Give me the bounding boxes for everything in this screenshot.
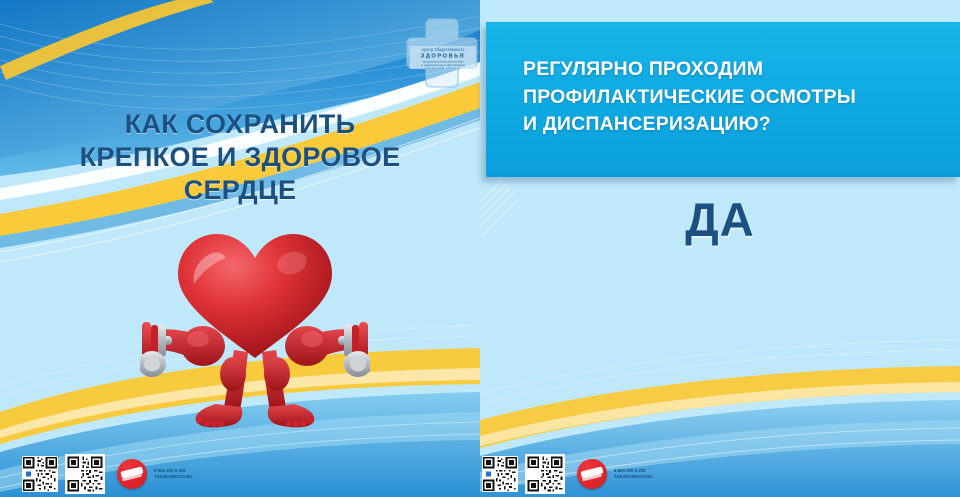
contact-website: TAKZDOROVO.RU <box>154 474 192 480</box>
qr-code-primary[interactable] <box>482 456 518 492</box>
left-footer-strip: 8 800 200 0 200 TAKZDOROVO.RU <box>22 455 192 493</box>
banner-line-3: И ДИСПАНСЕРИЗАЦИЮ? <box>523 111 946 139</box>
takzdorovo-badge-icon[interactable] <box>117 459 147 489</box>
contact-info: 8 800 200 0 200 TAKZDOROVO.RU <box>614 468 652 481</box>
contact-info: 8 800 200 0 200 TAKZDOROVO.RU <box>154 468 192 481</box>
title-line-2: КРЕПКОЕ И ЗДОРОВОЕ <box>0 141 480 174</box>
left-panel-title: КАК СОХРАНИТЬ КРЕПКОЕ И ЗДОРОВОЕ СЕРДЦЕ <box>0 108 480 207</box>
poster-canvas: Центр Общественного ЗДОРОВЬЯ медицинской… <box>0 0 960 497</box>
title-line-3: СЕРДЦЕ <box>0 174 480 207</box>
question-banner: РЕГУЛЯРНО ПРОХОДИМ ПРОФИЛАКТИЧЕСКИЕ ОСМО… <box>486 22 960 177</box>
svg-text:Рязанской области: Рязанской области <box>426 66 461 70</box>
qr-code-secondary[interactable] <box>65 454 105 494</box>
muscular-heart-illustration <box>140 218 370 442</box>
left-poster-panel: Центр Общественного ЗДОРОВЬЯ медицинской… <box>0 0 480 497</box>
qr-code-secondary[interactable] <box>525 454 565 494</box>
medical-cross-logo-icon: Центр Общественного ЗДОРОВЬЯ медицинской… <box>406 16 478 90</box>
svg-text:Центр Общественного: Центр Общественного <box>422 47 466 52</box>
banner-line-1: РЕГУЛЯРНО ПРОХОДИМ <box>523 56 946 84</box>
title-line-1: КАК СОХРАНИТЬ <box>0 108 480 141</box>
qr-code-primary[interactable] <box>22 456 58 492</box>
contact-website: TAKZDOROVO.RU <box>614 474 652 480</box>
answer-yes: ДА <box>480 192 960 247</box>
takzdorovo-badge-icon[interactable] <box>577 459 607 489</box>
banner-line-2: ПРОФИЛАКТИЧЕСКИЕ ОСМОТРЫ <box>523 84 946 112</box>
banner-question-text: РЕГУЛЯРНО ПРОХОДИМ ПРОФИЛАКТИЧЕСКИЕ ОСМО… <box>523 56 946 139</box>
right-footer-strip: 8 800 200 0 200 TAKZDOROVO.RU <box>482 455 652 493</box>
